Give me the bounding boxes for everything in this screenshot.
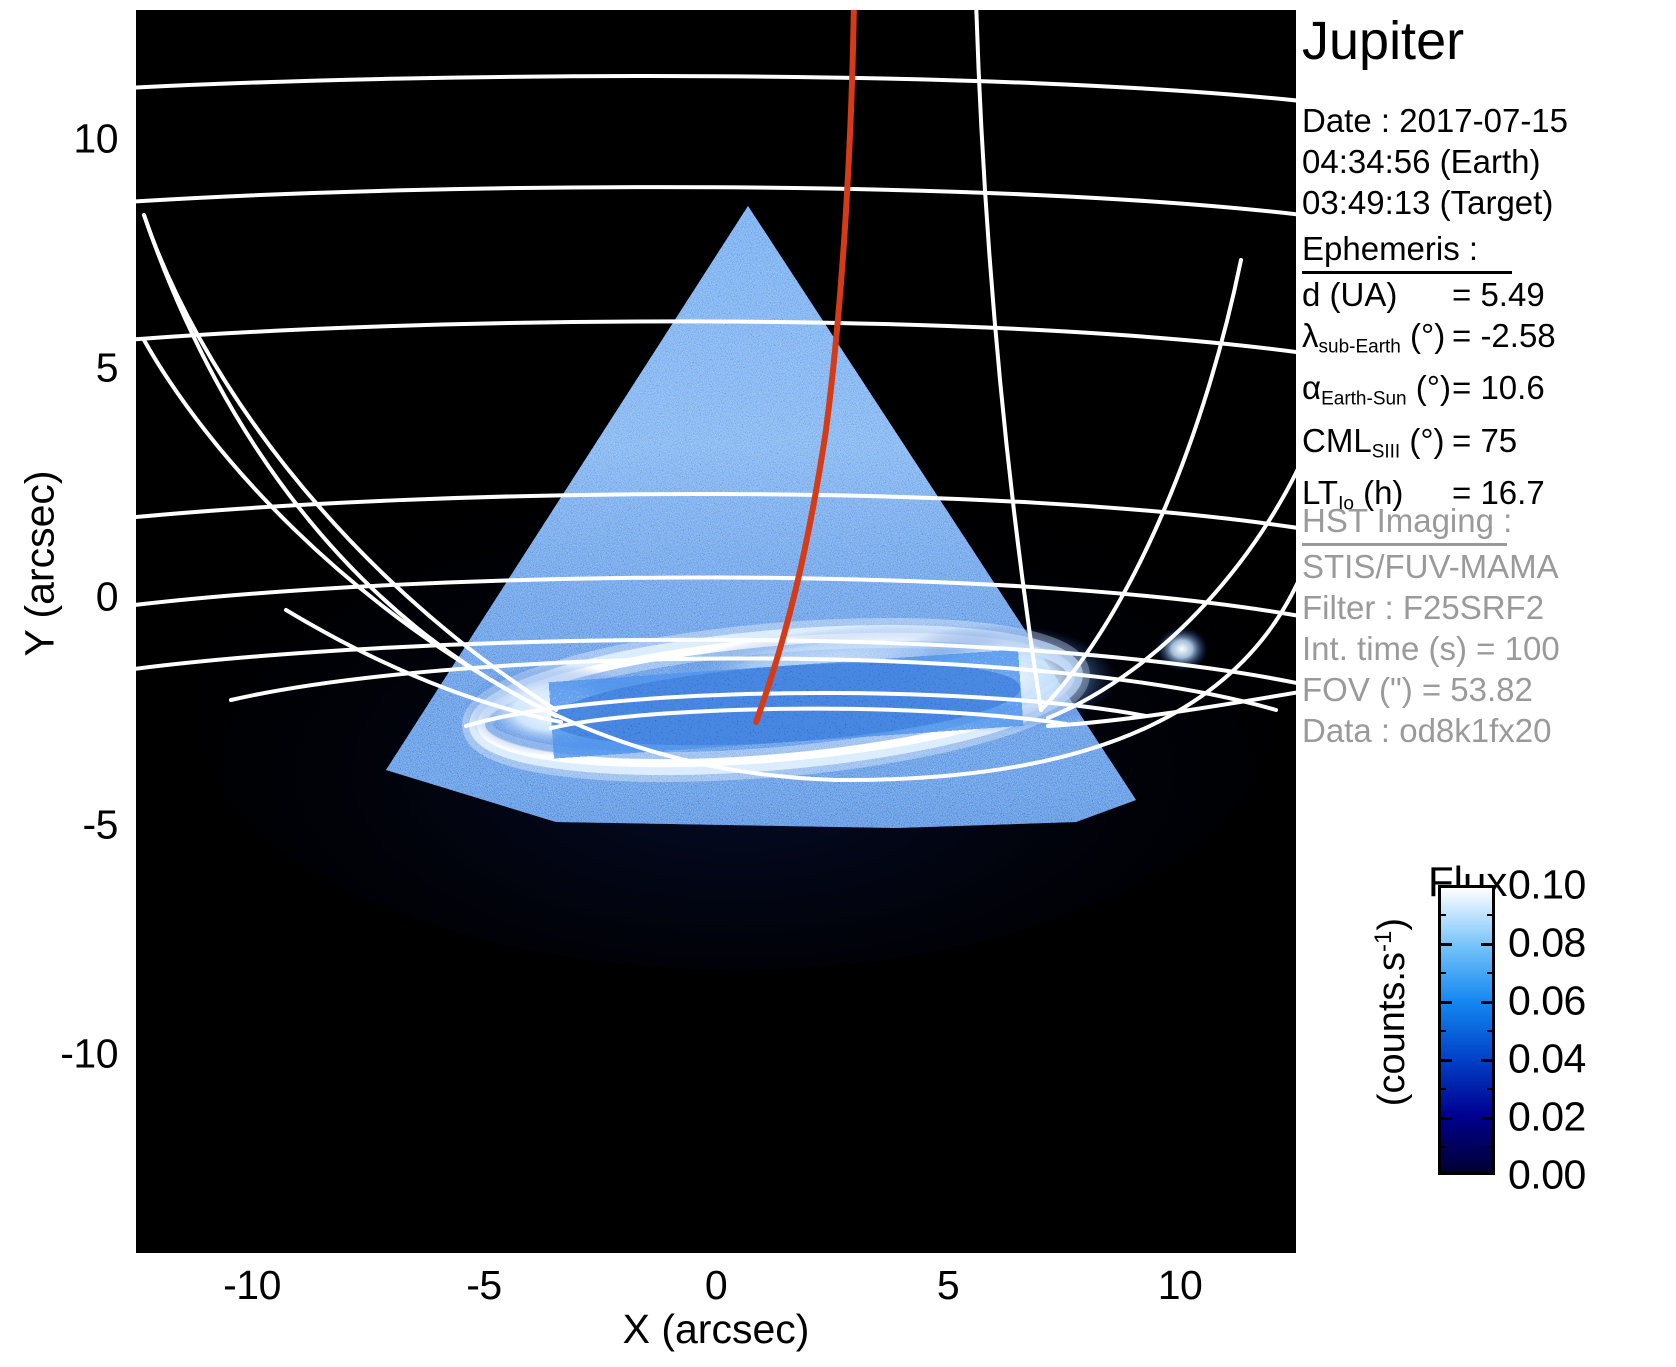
y-axis: 10 5 0 -5 -10 Y (arcsec)	[0, 0, 136, 1253]
x-tick-0: 0	[705, 1262, 727, 1309]
hst-dataset: Data : od8k1fx20	[1302, 710, 1560, 751]
colorbar-tick-002: 0.02	[1508, 1094, 1586, 1141]
page-title: Jupiter	[1302, 12, 1464, 70]
colorbar-tick-010: 0.10	[1508, 862, 1586, 909]
hst-fov: FOV (") = 53.82	[1302, 669, 1560, 710]
y-axis-title: Y (arcsec)	[17, 384, 64, 744]
colorbar-tick-000: 0.00	[1508, 1152, 1586, 1199]
x-tick-10: 10	[1158, 1262, 1203, 1309]
ephemeris-row-phase-angle: αEarth-Sun (°)= 10.6	[1302, 367, 1556, 419]
x-axis-title: X (arcsec)	[136, 1306, 1296, 1353]
y-tick-10: 10	[0, 116, 118, 163]
colorbar-tick-004: 0.04	[1508, 1036, 1586, 1083]
x-tick-neg10: -10	[223, 1262, 281, 1309]
y-tick-neg5: -5	[0, 802, 118, 849]
ephemeris-block: Ephemeris : d (UA)= 5.49 λsub-Earth (°)=…	[1302, 228, 1556, 524]
hst-imaging-heading: HST Imaging :	[1302, 500, 1512, 546]
ephemeris-heading-rule	[1302, 271, 1512, 274]
colorbar: Flux 0.10 0.08 0.06 0.04 0.02 0.00 (coun…	[1300, 840, 1676, 1200]
colorbar-tick-006: 0.06	[1508, 978, 1586, 1025]
ephemeris-row-distance: d (UA)= 5.49	[1302, 274, 1556, 315]
x-tick-5: 5	[937, 1262, 959, 1309]
hst-instrument: STIS/FUV-MAMA	[1302, 546, 1560, 587]
observation-date-block: Date : 2017-07-15 04:34:56 (Earth) 03:49…	[1302, 100, 1568, 223]
x-tick-neg5: -5	[466, 1262, 501, 1309]
hst-filter: Filter : F25SRF2	[1302, 587, 1560, 628]
image-plot-panel	[136, 10, 1296, 1253]
date-line-target: 03:49:13 (Target)	[1302, 182, 1568, 223]
colorbar-tick-008: 0.08	[1508, 920, 1586, 967]
jupiter-fuv-image	[136, 10, 1296, 1253]
y-tick-neg10: -10	[0, 1031, 118, 1078]
ephemeris-row-sub-earth-latitude: λsub-Earth (°)= -2.58	[1302, 315, 1556, 367]
date-line-utc: Date : 2017-07-15	[1302, 100, 1568, 141]
ephemeris-row-cml: CMLSIII (°)= 75	[1302, 420, 1556, 472]
ephemeris-heading: Ephemeris :	[1302, 228, 1512, 274]
hst-int-time: Int. time (s) = 100	[1302, 628, 1560, 669]
date-line-earth: 04:34:56 (Earth)	[1302, 141, 1568, 182]
hst-heading-rule	[1302, 543, 1507, 546]
colorbar-unit-label: (counts.s-1)	[1370, 862, 1414, 1162]
hst-imaging-block: HST Imaging : STIS/FUV-MAMA Filter : F25…	[1302, 500, 1560, 751]
